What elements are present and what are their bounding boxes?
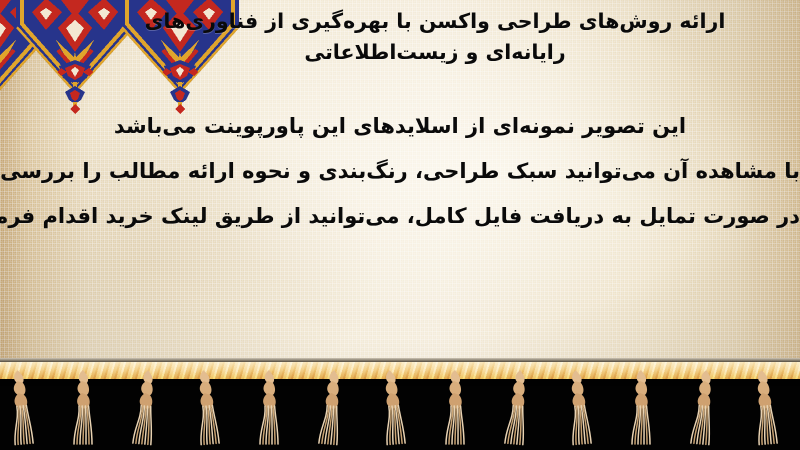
fringe-tassel: [3, 369, 40, 447]
slide-body-line-1: این تصویر نمونه‌ای از اسلایدهای این پاور…: [0, 104, 800, 149]
fringe-tassel: [561, 369, 598, 447]
fringe-tassel: [375, 369, 412, 447]
slide-title-line-1: ارائه روش‌های طراحی واکسن با بهره‌گیری ا…: [70, 6, 800, 37]
slide-body-line-3: در صورت تمایل به دریافت فایل کامل، می‌تو…: [0, 194, 800, 239]
fringe-tassel: [685, 369, 722, 447]
fringe-tassel: [747, 369, 784, 447]
fringe-tassel: [440, 370, 470, 446]
slide-title-line-2: رایانه‌ای و زیست‌اطلاعاتی: [70, 37, 800, 68]
fringe-tassel: [189, 369, 226, 447]
fringe-tassel: [313, 369, 350, 447]
fringe-tassel: [254, 370, 284, 446]
fringe-tassel: [127, 369, 164, 447]
slide-title: ارائه روش‌های طراحی واکسن با بهره‌گیری ا…: [70, 6, 800, 68]
fringe-selvedge-cord: [0, 362, 800, 379]
fringe-tassel: [499, 369, 536, 447]
carpet-fringe-tassels: [0, 358, 800, 450]
slide-body-line-2: با مشاهده آن می‌توانید سبک طراحی، رنگ‌بن…: [0, 149, 800, 194]
fringe-tassel: [626, 370, 656, 446]
fringe-tassel: [68, 370, 98, 446]
presentation-slide: ارائه روش‌های طراحی واکسن با بهره‌گیری ا…: [0, 0, 800, 450]
slide-body-text: این تصویر نمونه‌ای از اسلایدهای این پاور…: [0, 104, 800, 239]
